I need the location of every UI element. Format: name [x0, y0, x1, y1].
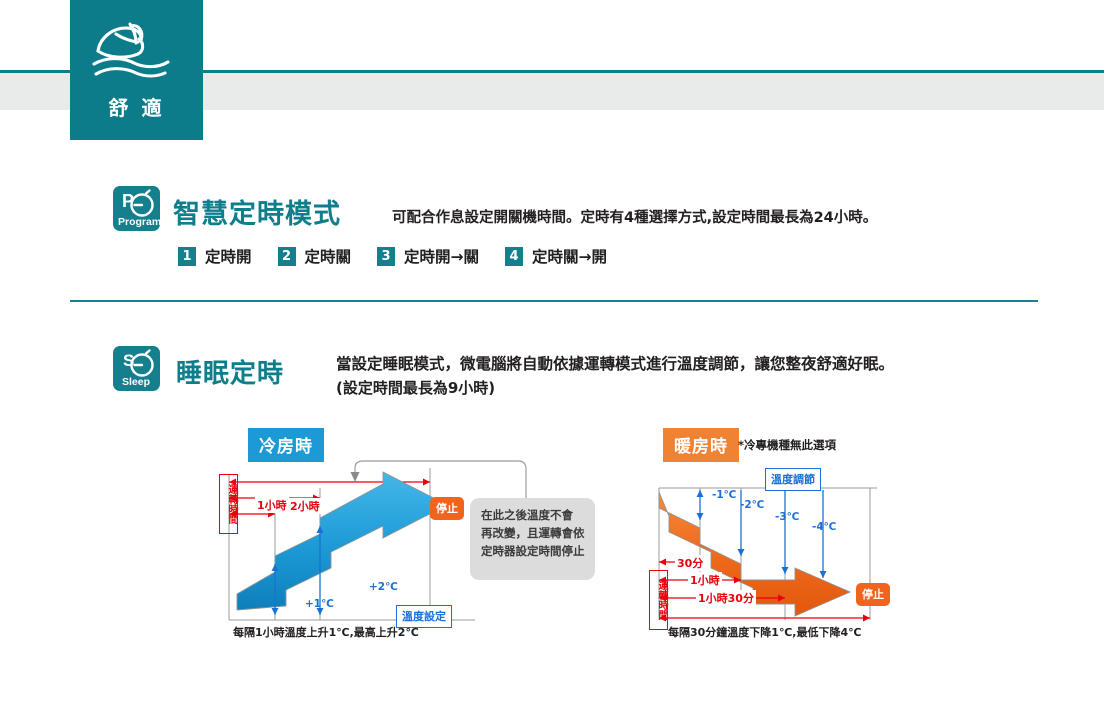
program-option-4[interactable]: 4 定時關→開	[505, 245, 607, 267]
option-number-badge: 1	[178, 247, 196, 266]
heating-setting-box: 溫度調節	[765, 468, 821, 491]
cooling-yaxis-label: 運轉時間	[219, 474, 238, 534]
sleep-description-line1: 當設定睡眠模式，微電腦將自動依據運轉模式進行溫度調節，讓您整夜舒適好眠。	[336, 352, 894, 374]
heating-temp-minus1: -1℃	[712, 489, 736, 501]
comfort-breeze-icon	[86, 18, 186, 80]
program-option-2[interactable]: 2 定時關	[278, 245, 352, 267]
cooling-stop-badge: 停止	[430, 497, 464, 520]
cooling-note-line2: 再改變，且運轉會依	[481, 525, 585, 543]
heating-time-mark-1hr30: 1小時30分	[696, 590, 756, 606]
cooling-temp-plus1: +1℃	[305, 598, 334, 610]
section-divider	[70, 300, 1038, 302]
cooling-note-box: 在此之後溫度不會 再改變，且運轉會依 定時器設定時間停止	[470, 498, 595, 580]
option-label: 定時開→關	[404, 245, 479, 267]
sleep-icon-word: Sleep	[122, 376, 150, 388]
comfort-banner-label: 舒 適	[70, 92, 203, 121]
option-label: 定時關	[305, 245, 352, 267]
heating-stop-badge: 停止	[856, 583, 890, 606]
option-number-badge: 2	[278, 247, 296, 266]
program-option-3[interactable]: 3 定時開→關	[377, 245, 479, 267]
heating-temp-minus3: -3℃	[775, 511, 799, 523]
option-label: 定時關→開	[532, 245, 607, 267]
cooling-note-line3: 定時器設定時間停止	[481, 543, 585, 561]
cooling-temp-plus2: +2℃	[369, 581, 398, 593]
cooling-caption: 每隔1小時溫度上升1℃,最高上升2℃	[233, 624, 419, 640]
heating-time-mark-30min: 30分	[675, 555, 705, 571]
heating-chart-graphic	[645, 470, 905, 630]
heating-mode-note: *冷專機種無此選項	[738, 437, 836, 453]
cooling-time-mark-1hr: 1小時	[255, 497, 289, 513]
heating-temp-minus2: -2℃	[740, 499, 764, 511]
program-description: 可配合作息設定開關機時間。定時有4種選擇方式,設定時間最長為24小時。	[392, 206, 877, 227]
cooling-time-mark-2hr: 2小時	[288, 498, 322, 514]
heating-mode-badge: 暖房時	[663, 428, 739, 462]
sleep-title: 睡眠定時	[176, 353, 284, 390]
heating-caption: 每隔30分鐘溫度下降1℃,最低下降4℃	[668, 624, 861, 640]
heating-time-mark-1hr: 1小時	[688, 572, 722, 588]
option-number-badge: 3	[377, 247, 395, 266]
option-label: 定時開	[205, 245, 252, 267]
program-timer-icon: P Program	[113, 186, 160, 231]
option-number-badge: 4	[505, 247, 523, 266]
heating-yaxis-label: 運轉時間	[649, 570, 668, 630]
cooling-mode-badge: 冷房時	[248, 428, 324, 462]
program-option-1[interactable]: 1 定時開	[178, 245, 252, 267]
program-option-list: 1 定時開 2 定時關 3 定時開→關 4 定時關→開	[178, 245, 633, 267]
heating-temp-minus4: -4℃	[812, 521, 836, 533]
comfort-banner-tile: 舒 適	[70, 0, 203, 140]
sleep-timer-icon: S Sleep	[113, 346, 160, 391]
program-icon-word: Program	[118, 216, 160, 228]
cooling-note-line1: 在此之後溫度不會	[481, 507, 585, 525]
sleep-description-line2: (設定時間最長為9小時)	[336, 377, 495, 398]
program-title: 智慧定時模式	[173, 192, 341, 231]
